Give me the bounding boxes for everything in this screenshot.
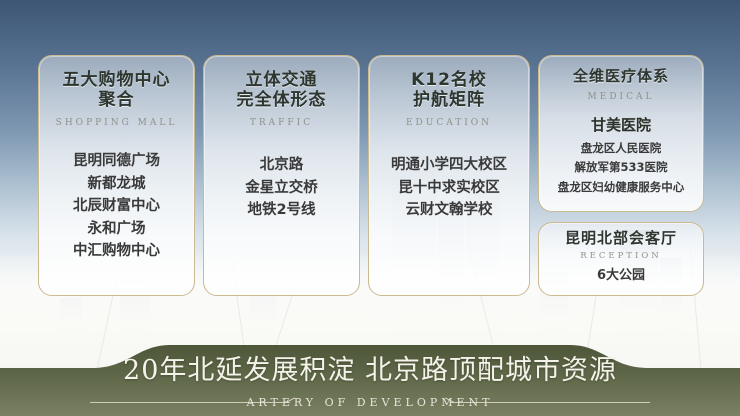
card-medical-items: 盘龙区人民医院 解放军第533医院 盘龙区妇幼健康服务中心 (539, 139, 703, 198)
card-education-english: EDUCATION (369, 118, 529, 128)
card-medical[interactable]: 全维医疗体系 MEDICAL 甘美医院 盘龙区人民医院 解放军第533医院 盘龙… (538, 55, 704, 212)
card-reception-items: 6大公园 (539, 266, 703, 286)
card-education[interactable]: K12名校 护航矩阵 EDUCATION 明通小学四大校区 昆十中求实校区 云财… (368, 55, 530, 296)
card-medical-title: 全维医疗体系 (539, 68, 703, 86)
banner-subtitle-row: ARTERY OF DEVELOPMENT (90, 393, 650, 411)
bottom-banner: 20年北延发展积淀 北京路顶配城市资源 ARTERY OF DEVELOPMEN… (0, 340, 740, 416)
poster-stage: 五大购物中心 聚合 SHOPPING MALL 昆明同德广场 新都龙城 北辰财富… (0, 0, 740, 416)
card-traffic-items: 北京路 金星立交桥 地铁2号线 (204, 154, 359, 221)
banner-headline: 20年北延发展积淀 北京路顶配城市资源 (123, 348, 617, 387)
card-education-title: K12名校 护航矩阵 (369, 70, 529, 110)
card-traffic-title: 立体交通 完全体形态 (204, 70, 359, 110)
card-education-items: 明通小学四大校区 昆十中求实校区 云财文翰学校 (369, 154, 529, 221)
card-medical-english: MEDICAL (539, 92, 703, 102)
card-shopping-items: 昆明同德广场 新都龙城 北辰财富中心 永和广场 中汇购物中心 (39, 150, 194, 262)
card-traffic[interactable]: 立体交通 完全体形态 TRAFFIC 北京路 金星立交桥 地铁2号线 (203, 55, 360, 296)
banner-subtitle: ARTERY OF DEVELOPMENT (236, 396, 503, 409)
card-traffic-english: TRAFFIC (204, 118, 359, 128)
card-reception-english: RECEPTION (539, 251, 703, 261)
card-shopping-title: 五大购物中心 聚合 (39, 70, 194, 110)
card-reception[interactable]: 昆明北部会客厅 RECEPTION 6大公园 (538, 222, 704, 296)
card-shopping[interactable]: 五大购物中心 聚合 SHOPPING MALL 昆明同德广场 新都龙城 北辰财富… (38, 55, 195, 296)
card-shopping-english: SHOPPING MALL (39, 118, 194, 128)
card-medical-lead: 甘美医院 (539, 114, 703, 135)
card-reception-title: 昆明北部会客厅 (539, 230, 703, 248)
